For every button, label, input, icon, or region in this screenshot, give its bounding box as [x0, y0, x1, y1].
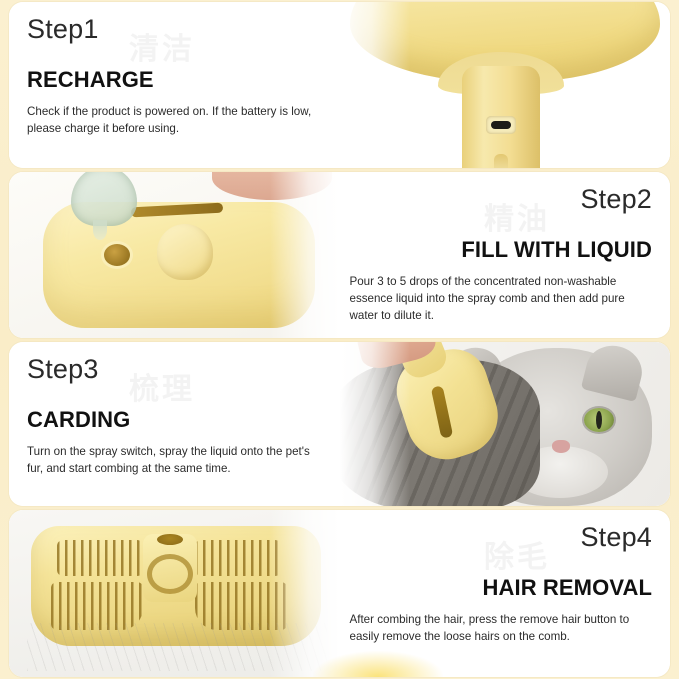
comb-handle-slot [494, 154, 508, 168]
image-feather-edge [340, 342, 410, 506]
step-3-label: Step3 [27, 356, 324, 383]
remove-hair-button [157, 534, 183, 545]
step-4-image [9, 510, 340, 677]
step-2-label: Step2 [350, 186, 653, 213]
step-3-description: Turn on the spray switch, spray the liqu… [27, 444, 324, 478]
image-feather-edge [270, 510, 340, 677]
bristle-pad-top-left [57, 540, 143, 576]
step-3-text-block: 梳理 Step3 CARDING Turn on the spray switc… [9, 342, 340, 506]
cat-nose [552, 440, 570, 453]
step-4-description: After combing the hair, press the remove… [350, 612, 653, 646]
glass-dropper-icon [71, 172, 137, 226]
step-2-title: FILL WITH LIQUID [350, 239, 653, 261]
fill-hole [104, 244, 130, 266]
step-1-description: Check if the product is powered on. If t… [27, 104, 324, 138]
step-1-image [340, 2, 671, 168]
step-panel-1: 清洁 Step1 RECHARGE Check if the product i… [9, 2, 670, 168]
image-feather-edge [340, 2, 410, 168]
step-3-title: CARDING [27, 409, 324, 431]
cat-ear-right [581, 342, 647, 402]
bristle-pad-top-right [195, 540, 281, 576]
comb-center-ring [147, 554, 193, 594]
step-2-text-block: 精油 Step2 FILL WITH LIQUID Pour 3 to 5 dr… [340, 172, 671, 338]
step-panel-3: 梳理 Step3 CARDING Turn on the spray switc… [9, 342, 670, 506]
image-feather-edge [270, 172, 340, 338]
step-4-title: HAIR REMOVAL [350, 577, 653, 599]
spray-knob [157, 224, 213, 280]
step-2-description: Pour 3 to 5 drops of the concentrated no… [350, 274, 653, 324]
step-1-title: RECHARGE [27, 69, 324, 91]
cat-eye-right [584, 408, 614, 432]
step-1-text-block: 清洁 Step1 RECHARGE Check if the product i… [9, 2, 340, 168]
step-panel-4: 除毛 Step4 HAIR REMOVAL After combing the … [9, 510, 670, 677]
step-panel-2: 精油 Step2 FILL WITH LIQUID Pour 3 to 5 dr… [9, 172, 670, 338]
step-3-image [340, 342, 671, 506]
step-1-label: Step1 [27, 16, 324, 43]
usb-c-port-icon [486, 116, 516, 134]
product-instruction-infographic: 清洁 Step1 RECHARGE Check if the product i… [0, 0, 679, 679]
step-2-image [9, 172, 340, 338]
step-4-text-block: 除毛 Step4 HAIR REMOVAL After combing the … [340, 510, 671, 677]
step-4-label: Step4 [350, 524, 653, 551]
